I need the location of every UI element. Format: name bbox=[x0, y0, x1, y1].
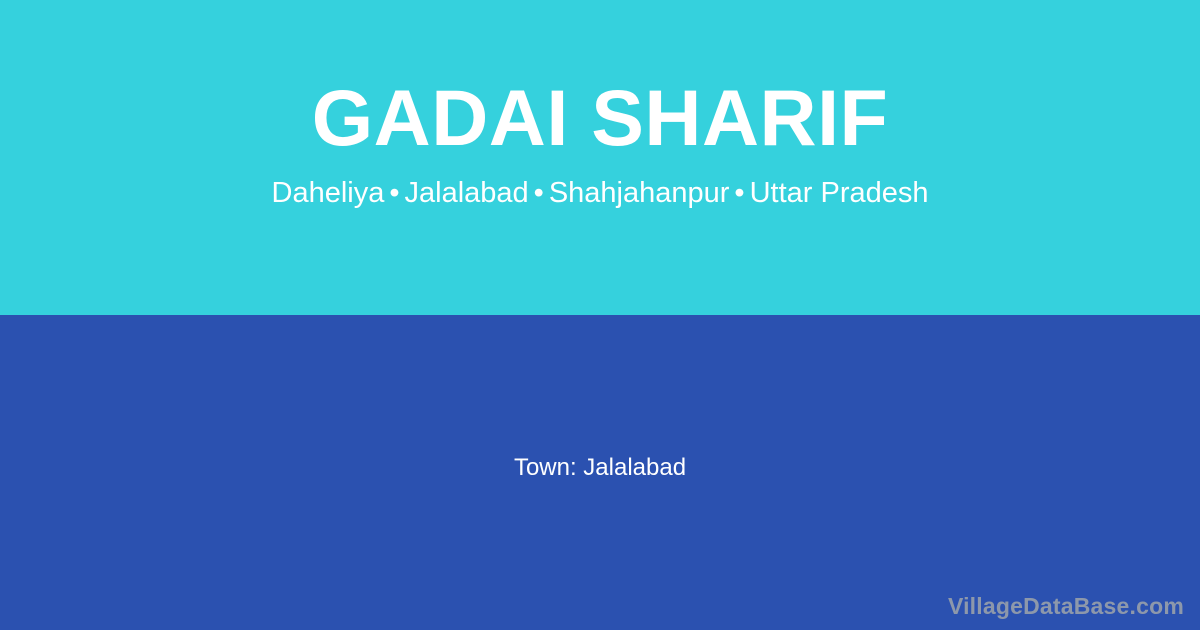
breadcrumb-item-town: Jalalabad bbox=[405, 177, 529, 209]
breadcrumb-item-state: Uttar Pradesh bbox=[750, 177, 929, 209]
breadcrumb-item-district: Shahjahanpur bbox=[549, 177, 730, 209]
breadcrumb-separator-icon: • bbox=[729, 177, 749, 209]
detail-panel: Town: Jalalabad VillageDataBase.com bbox=[0, 315, 1200, 630]
breadcrumb-separator-icon: • bbox=[529, 177, 549, 209]
hero-banner: GADAI SHARIF Daheliya•Jalalabad•Shahjaha… bbox=[0, 0, 1200, 315]
detail-panel-content: Town: Jalalabad bbox=[0, 315, 1200, 630]
town-detail: Town: Jalalabad bbox=[514, 454, 686, 482]
breadcrumb: Daheliya•Jalalabad•Shahjahanpur•Uttar Pr… bbox=[272, 176, 929, 211]
village-info-card: GADAI SHARIF Daheliya•Jalalabad•Shahjaha… bbox=[0, 0, 1200, 630]
page-title: GADAI SHARIF bbox=[312, 78, 889, 157]
breadcrumb-item-village: Daheliya bbox=[272, 177, 385, 209]
site-watermark: VillageDataBase.com bbox=[948, 593, 1184, 620]
breadcrumb-separator-icon: • bbox=[384, 177, 404, 209]
